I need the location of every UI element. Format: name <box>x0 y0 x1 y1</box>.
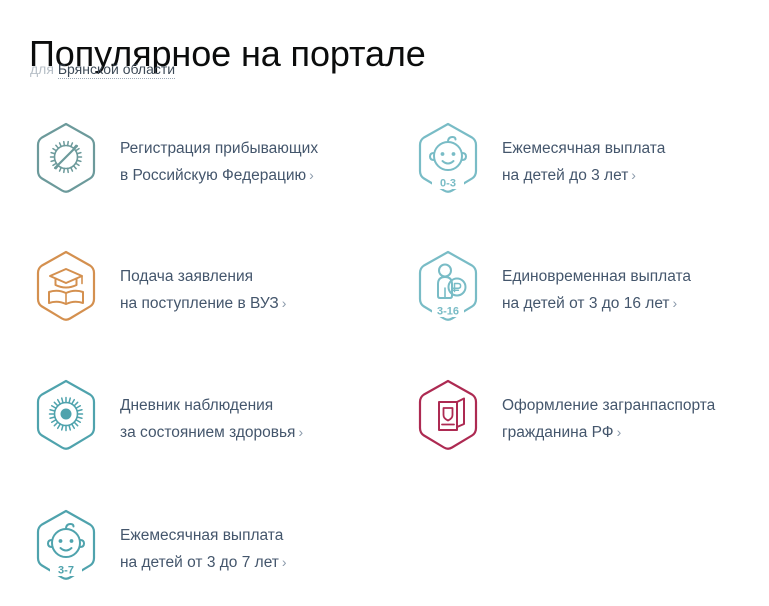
service-card-line-2-text: на детей от 3 до 7 лет <box>120 554 279 571</box>
child-ruble-hexagon-icon: 3-16 <box>412 246 484 326</box>
service-card-line-1: Оформление загранпаспорта <box>502 393 715 419</box>
service-card-health-monitoring-diary[interactable]: Дневник наблюденияза состоянием здоровья… <box>30 375 390 455</box>
chevron-right-icon[interactable]: › <box>282 554 287 570</box>
service-card-foreign-passport[interactable]: Оформление загранпаспортагражданина РФ› <box>412 375 769 455</box>
service-card-line-1: Подача заявления <box>120 264 286 290</box>
service-card-line-2: за состоянием здоровья› <box>120 419 303 446</box>
chevron-right-icon[interactable]: › <box>298 424 303 440</box>
graduation-cap-book-hexagon-icon <box>30 246 102 326</box>
virus-hexagon-icon <box>30 375 102 455</box>
chevron-right-icon[interactable]: › <box>282 295 287 311</box>
service-card-one-time-payment-3-16[interactable]: 3-16Единовременная выплатана детей от 3 … <box>412 246 769 326</box>
service-card-line-2-text: гражданина РФ <box>502 424 614 441</box>
chevron-right-icon[interactable]: › <box>673 295 678 311</box>
service-card-line-1: Ежемесячная выплата <box>502 136 665 162</box>
popular-services-page: Популярное на портале для Брянской облас… <box>0 0 769 606</box>
service-card-label: Оформление загранпаспортагражданина РФ› <box>502 375 715 446</box>
service-card-monthly-payment-under-3[interactable]: 0-3Ежемесячная выплатана детей до 3 лет› <box>412 118 769 198</box>
service-card-label: Регистрация прибывающихв Российскую Феде… <box>120 118 318 189</box>
service-card-line-2-text: на поступление в ВУЗ <box>120 295 279 312</box>
passport-hexagon-icon <box>412 375 484 455</box>
service-card-registration-arrivals[interactable]: Регистрация прибывающихв Российскую Феде… <box>30 118 390 198</box>
service-card-label: Подача заявленияна поступление в ВУЗ› <box>120 246 286 317</box>
service-card-university-application[interactable]: Подача заявленияна поступление в ВУЗ› <box>30 246 390 326</box>
service-card-line-1: Ежемесячная выплата <box>120 523 287 549</box>
chevron-right-icon[interactable]: › <box>631 167 636 183</box>
service-card-label: Дневник наблюденияза состоянием здоровья… <box>120 375 303 446</box>
subtitle-prefix: для <box>30 61 54 77</box>
service-card-line-2-text: в Российскую Федерацию <box>120 167 306 184</box>
region-subtitle: для Брянской области <box>30 60 175 78</box>
svg-text:3-16: 3-16 <box>437 306 459 318</box>
service-card-line-2: гражданина РФ› <box>502 419 715 446</box>
service-card-line-2-text: на детей до 3 лет <box>502 167 628 184</box>
service-card-line-2: в Российскую Федерацию› <box>120 162 318 189</box>
service-card-line-2-text: за состоянием здоровья <box>120 424 295 441</box>
service-card-line-2-text: на детей от 3 до 16 лет <box>502 295 670 312</box>
svg-text:3-7: 3-7 <box>58 565 74 577</box>
service-card-label: Ежемесячная выплатана детей до 3 лет› <box>502 118 665 189</box>
no-virus-hexagon-icon <box>30 118 102 198</box>
baby-face-hexagon-icon: 3-7 <box>30 505 102 585</box>
baby-face-hexagon-icon: 0-3 <box>412 118 484 198</box>
service-card-line-1: Дневник наблюдения <box>120 393 303 419</box>
service-card-line-1: Регистрация прибывающих <box>120 136 318 162</box>
chevron-right-icon[interactable]: › <box>617 424 622 440</box>
region-selector-link[interactable]: Брянской области <box>58 61 175 79</box>
service-card-line-2: на детей от 3 до 16 лет› <box>502 290 691 317</box>
service-card-line-2: на поступление в ВУЗ› <box>120 290 286 317</box>
service-card-label: Единовременная выплатана детей от 3 до 1… <box>502 246 691 317</box>
service-card-label: Ежемесячная выплатана детей от 3 до 7 ле… <box>120 505 287 576</box>
service-card-line-2: на детей до 3 лет› <box>502 162 665 189</box>
chevron-right-icon[interactable]: › <box>309 167 314 183</box>
service-card-line-2: на детей от 3 до 7 лет› <box>120 549 287 576</box>
service-card-line-1: Единовременная выплата <box>502 264 691 290</box>
svg-text:0-3: 0-3 <box>440 178 456 190</box>
service-card-monthly-payment-3-7[interactable]: 3-7Ежемесячная выплатана детей от 3 до 7… <box>30 505 390 585</box>
